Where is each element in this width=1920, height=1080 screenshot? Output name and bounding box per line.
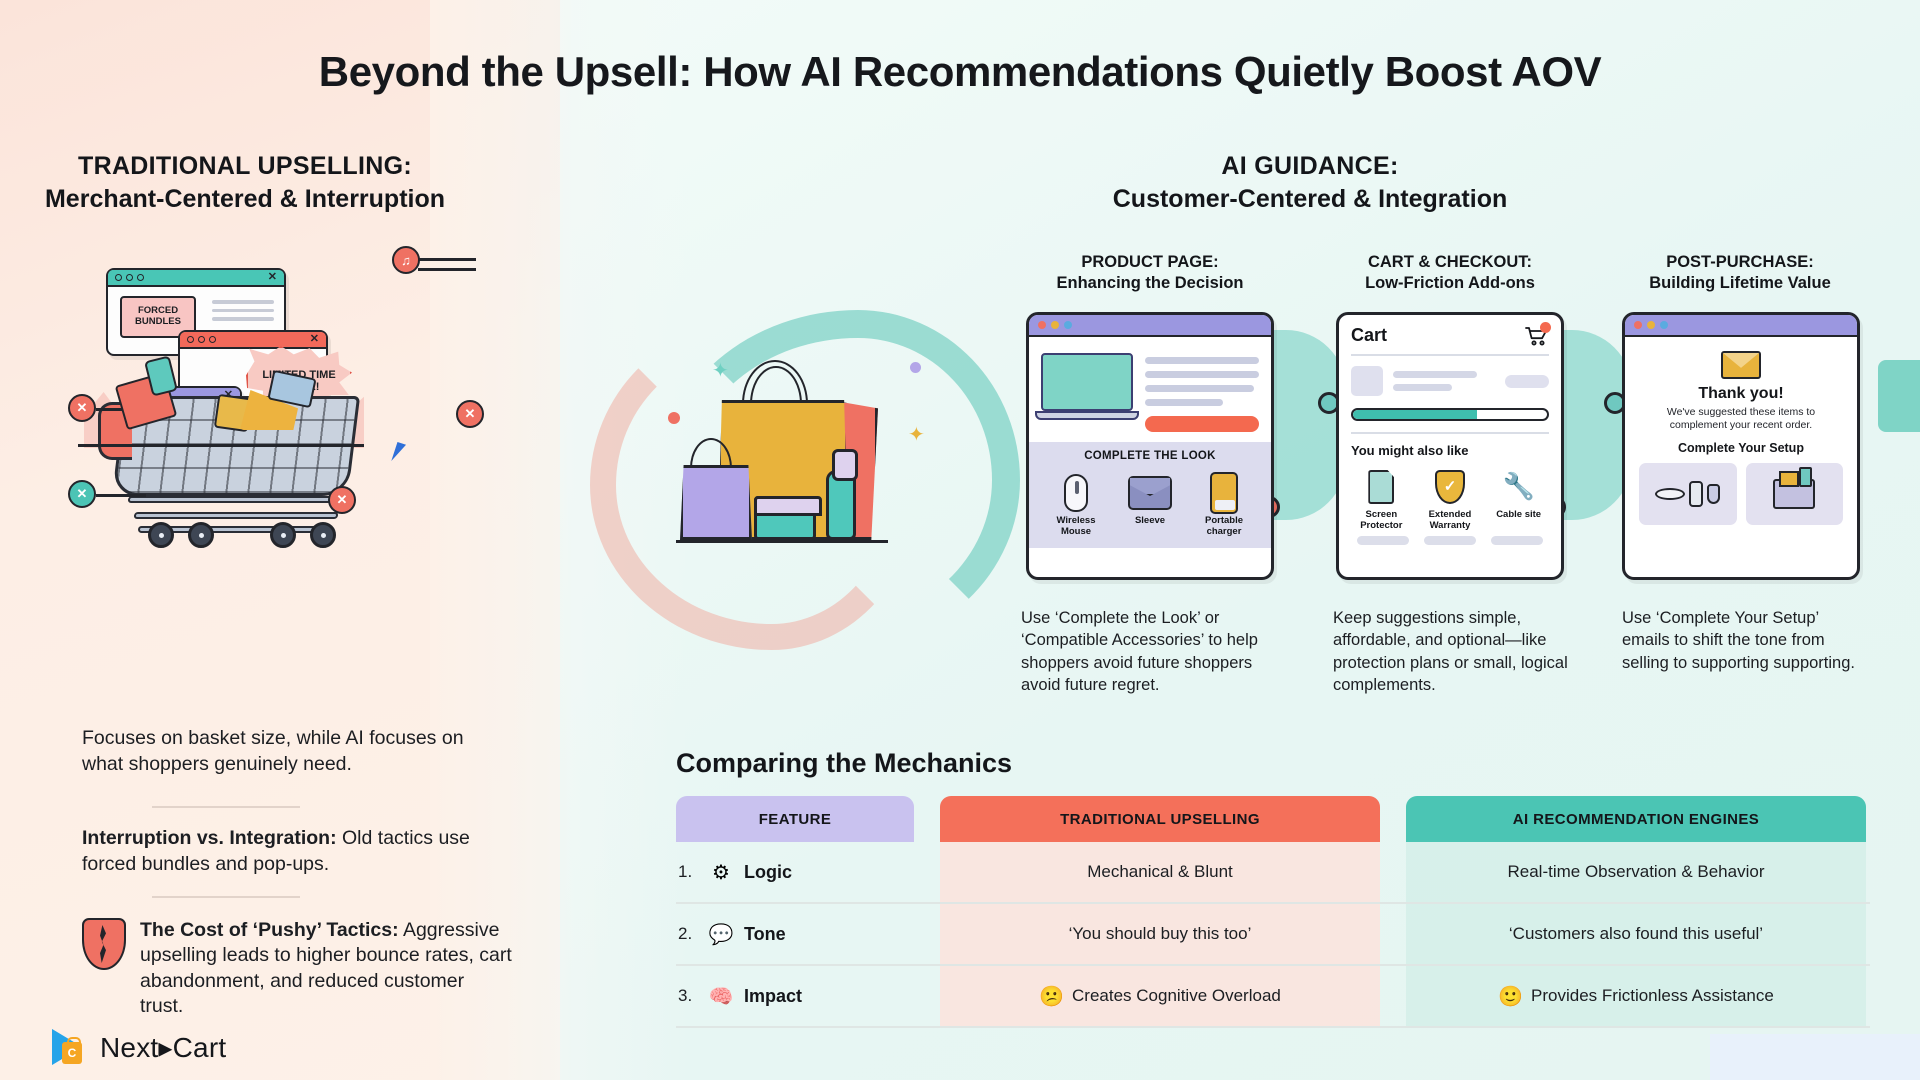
recommendation-items: Wireless Mouse Sleeve Portable charger [1039,470,1261,538]
window-dot [1647,321,1655,329]
screen-protector-icon [1353,464,1409,510]
table-title: Comparing the Mechanics [676,748,1012,779]
ai-value: Provides Frictionless Assistance [1531,986,1774,1006]
left-point-3-bold: The Cost of ‘Pushy’ Tactics: [140,919,399,941]
row-number: 2. [678,924,698,944]
cart-line-item [1351,366,1549,396]
feature-label: Tone [744,924,786,945]
ground-line [78,444,364,447]
infographic-canvas: Beyond the Upsell: How AI Recommendation… [0,0,1920,1080]
item-label: Cable site [1496,509,1541,520]
thank-you-email: Thank you! We've suggested these items t… [1625,337,1857,537]
table-header-row: FEATURE TRADITIONAL UPSELLING AI RECOMME… [676,796,1870,842]
left-column-heading: TRADITIONAL UPSELLING: Merchant-Centered… [30,152,460,214]
feature-cell: 3. 🧠 Impact [676,984,914,1009]
product-detail-lines [1145,353,1259,432]
edge-tab-accent [1878,360,1920,432]
cart-header: Cart [1339,315,1561,434]
add-to-cart-button[interactable] [1145,416,1259,432]
brain-icon: 🧠 [707,984,735,1009]
traditional-cell: ‘You should buy this too’ [940,924,1380,944]
divider [152,896,300,898]
smiling-face-icon: 🙂 [1498,984,1523,1009]
organizer-box-icon [1773,479,1815,509]
window-dot [1051,321,1059,329]
purple-bag [680,465,752,540]
cart-wheel [270,522,296,548]
left-heading-line2: Merchant-Centered & Interruption [30,185,460,214]
warranty-shield-icon: ✓ [1422,464,1478,510]
cart-wheel [188,522,214,548]
shopping-bags-illustration: ✦ ✦ [600,300,1020,660]
wireless-mouse-icon [1048,470,1104,516]
cart-frame [124,492,350,534]
card1-head-line2: Enhancing the Decision [1020,273,1280,294]
card3-caption: Use ‘Complete Your Setup’ emails to shif… [1622,607,1862,674]
traditional-value: Mechanical & Blunt [1087,862,1233,882]
connector-line [418,268,476,271]
close-pin-icon: ✕ [328,486,356,514]
product-tile[interactable] [1639,463,1737,525]
logo-mark-icon: C [52,1028,90,1066]
left-point-3: The Cost of ‘Pushy’ Tactics: Aggressive … [82,918,512,1019]
card3-head-line2: Building Lifetime Value [1615,273,1865,294]
wrench-icon: 🔧 [1491,464,1547,510]
right-column-heading: AI GUIDANCE: Customer-Centered & Integra… [1020,152,1600,214]
item-text-lines [1393,371,1495,391]
comparison-table: FEATURE TRADITIONAL UPSELLING AI RECOMME… [676,796,1870,1028]
window-titlebar: ✕ [108,270,284,287]
post-purchase-mockup[interactable]: Thank you! We've suggested these items t… [1622,312,1860,580]
product-tile[interactable] [1746,463,1844,525]
left-point-3-text: The Cost of ‘Pushy’ Tactics: Aggressive … [140,918,512,1019]
close-icon: ✕ [268,272,277,283]
recommendation-item[interactable]: Portable charger [1196,470,1252,538]
cursor-icon [391,442,412,466]
window-titlebar: ✕ [180,332,326,349]
envelope-icon [1721,351,1761,379]
portable-charger-icon [1196,470,1252,516]
cart-goods [120,374,320,434]
you-might-also-like-title: You might also like [1339,434,1561,458]
brand-logo[interactable]: C Next▸Cart [52,1028,226,1066]
suggestion-item[interactable]: ✓ Extended Warranty [1422,464,1478,532]
ai-cell: ‘Customers also found this useful’ [1406,924,1866,944]
right-heading-line1: AI GUIDANCE: [1020,152,1600,181]
bags-group [680,370,920,570]
traditional-value: Creates Cognitive Overload [1072,986,1281,1006]
setup-product-tiles [1639,463,1843,525]
accent-dot [668,412,680,424]
card-heading-product-page: PRODUCT PAGE: Enhancing the Decision [1020,252,1280,293]
window-dot [126,274,133,281]
table-body: 1. ⚙ Logic Mechanical & Blunt Real-time … [676,842,1870,1028]
thank-you-title: Thank you! [1639,385,1843,403]
traditional-value: ‘You should buy this too’ [1069,924,1252,944]
corner-accent-block [1710,1034,1920,1080]
close-pin-icon: ✕ [456,400,484,428]
cart-wheel [148,522,174,548]
flow-band [1262,330,1346,520]
laptop-icon [1041,353,1133,432]
window-dot [1038,321,1046,329]
card1-head-line1: PRODUCT PAGE: [1020,252,1280,273]
broken-shield-icon [82,918,126,970]
cart-badge [1540,322,1551,333]
page-title: Beyond the Upsell: How AI Recommendation… [0,48,1920,96]
add-button[interactable] [1491,536,1543,545]
card3-head-line1: POST-PURCHASE: [1615,252,1865,273]
cart-title: Cart [1351,325,1387,346]
connector-line [96,494,146,497]
window-dot [198,336,205,343]
shopping-cart-icon[interactable] [1525,326,1549,346]
complete-your-setup-title: Complete Your Setup [1639,441,1843,455]
row-number: 3. [678,986,698,1006]
complete-the-look-title: COMPLETE THE LOOK [1039,450,1261,462]
divider [1351,354,1549,356]
add-buttons-row [1339,532,1561,545]
item-label: Portable charger [1205,515,1243,537]
placeholder-text-lines [212,300,274,321]
recommendation-item[interactable]: Sleeve [1122,470,1178,538]
row-number: 1. [678,862,698,882]
feature-label: Logic [744,862,792,883]
table-row: 3. 🧠 Impact 😕 Creates Cognitive Overload… [676,966,1870,1028]
traditional-cell: Mechanical & Blunt [940,862,1380,882]
suggestion-item[interactable]: Screen Protector [1353,464,1409,532]
item-thumbnail [1351,366,1383,396]
speech-bubble-icon: 💬 [707,922,735,947]
ai-value: ‘Customers also found this useful’ [1509,924,1763,944]
thank-you-subtext: We've suggested these items to complemen… [1639,406,1843,432]
left-point-2: Interruption vs. Integration: Old tactic… [82,826,502,877]
card1-caption: Use ‘Complete the Look’ or ‘Compatible A… [1021,607,1266,696]
cap-icon [1707,484,1720,504]
free-shipping-progress [1351,408,1549,421]
ai-cell: 🙂 Provides Frictionless Assistance [1406,984,1866,1009]
suggestion-item[interactable]: 🔧 Cable site [1491,464,1547,532]
feature-label: Impact [744,986,802,1007]
pushy-upselling-illustration: ✕ FORCED BUNDLES ✕ LIMITED TIME OFFER! ✕… [78,268,498,588]
alert-pin-icon: ♫ [392,246,420,274]
logo-text: Next▸Cart [100,1031,226,1064]
close-pin-icon: ✕ [68,394,96,422]
column-header-feature: FEATURE [676,796,914,842]
item-label: Wireless Mouse [1057,515,1096,537]
complete-the-look-section: COMPLETE THE LOOK Wireless Mouse Sleeve … [1029,442,1271,548]
product-page-mockup[interactable]: COMPLETE THE LOOK Wireless Mouse Sleeve … [1026,312,1274,580]
table-row: 2. 💬 Tone ‘You should buy this too’ ‘Cus… [676,904,1870,966]
feature-cell: 2. 💬 Tone [676,922,914,947]
window-dot [187,336,194,343]
item-label: Screen Protector [1360,509,1402,531]
confused-face-icon: 😕 [1039,984,1064,1009]
left-point-2-bold: Interruption vs. Integration: [82,827,337,849]
window-dot [1634,321,1642,329]
window-dot [1064,321,1072,329]
floor-line [676,540,888,543]
left-point-1: Focuses on basket size, while AI focuses… [82,726,502,777]
cart-checkout-mockup[interactable]: Cart You might also like Scre [1336,312,1564,580]
close-icon: ✕ [310,334,319,345]
card-heading-cart-checkout: CART & CHECKOUT: Low-Friction Add-ons [1330,252,1570,293]
jar-item [754,496,816,540]
sleeve-icon [1122,470,1178,516]
item-price-pill [1505,375,1549,388]
left-heading-line1: TRADITIONAL UPSELLING: [30,152,460,181]
column-header-traditional: TRADITIONAL UPSELLING [940,796,1380,842]
suggestion-items: Screen Protector ✓ Extended Warranty 🔧 C… [1339,458,1561,532]
cart-wheel [310,522,336,548]
traditional-cell: 😕 Creates Cognitive Overload [940,984,1380,1009]
window-dot [137,274,144,281]
card2-head-line1: CART & CHECKOUT: [1330,252,1570,273]
card2-caption: Keep suggestions simple, affordable, and… [1333,607,1568,696]
mockup-titlebar [1029,315,1271,337]
window-dot [209,336,216,343]
product-hero [1029,337,1271,442]
cart-title-row: Cart [1351,325,1549,346]
plate-icon [1655,488,1685,500]
ai-cell: Real-time Observation & Behavior [1406,862,1866,882]
check-pin-icon: ✕ [68,480,96,508]
mockup-titlebar [1625,315,1857,337]
gears-icon: ⚙ [707,860,735,885]
window-dot [1660,321,1668,329]
bottle-icon [1689,481,1703,507]
item-label: Sleeve [1135,515,1165,526]
logo-bag-letter: C [62,1042,82,1064]
divider [152,806,300,808]
connector-line [418,258,476,261]
column-header-ai: AI RECOMMENDATION ENGINES [1406,796,1866,842]
bottle-item [826,470,856,540]
item-label: Extended Warranty [1429,509,1472,531]
add-button[interactable] [1357,536,1409,545]
cart-bar [128,496,345,503]
feature-cell: 1. ⚙ Logic [676,860,914,885]
window-dot [115,274,122,281]
cart-bar [134,512,339,519]
card-heading-post-purchase: POST-PURCHASE: Building Lifetime Value [1615,252,1865,293]
right-heading-line2: Customer-Centered & Integration [1020,185,1600,214]
table-row: 1. ⚙ Logic Mechanical & Blunt Real-time … [676,842,1870,904]
add-button[interactable] [1424,536,1476,545]
ai-value: Real-time Observation & Behavior [1507,862,1764,882]
recommendation-item[interactable]: Wireless Mouse [1048,470,1104,538]
card2-head-line2: Low-Friction Add-ons [1330,273,1570,294]
shopping-cart-graphic [100,396,370,546]
